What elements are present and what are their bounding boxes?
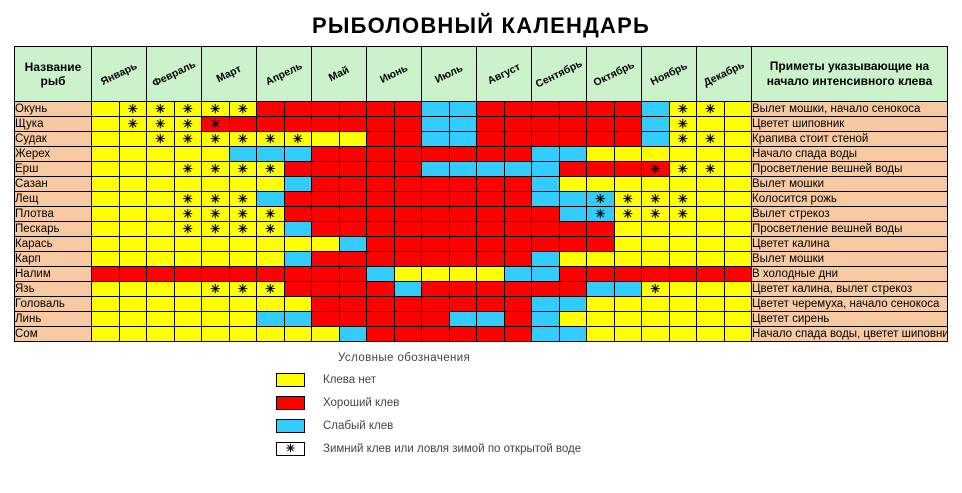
bite-cell <box>697 192 725 207</box>
header-month-3: Март <box>202 47 257 102</box>
bite-cell <box>174 237 202 252</box>
bite-cell <box>284 237 312 252</box>
bite-cell <box>147 147 175 162</box>
winter-bite-asterisk-icon: ✳ <box>257 133 284 146</box>
header-row: Название рыб ЯнварьФевральМартАпрельМайИ… <box>15 47 948 102</box>
bite-cell: ✳ <box>614 207 642 222</box>
bite-cell <box>504 147 532 162</box>
table-row: Окунь✳✳✳✳✳✳✳Вылет мошки, начало сенокоса <box>15 102 948 117</box>
bite-cell <box>559 192 587 207</box>
winter-bite-asterisk-icon: ✳ <box>147 103 174 116</box>
bite-cell <box>477 147 505 162</box>
winter-bite-asterisk-icon: ✳ <box>642 163 669 176</box>
table-row: ЛиньЦветет сирень <box>15 312 948 327</box>
bite-cell <box>312 177 340 192</box>
bite-cell <box>449 102 477 117</box>
bite-cell <box>504 117 532 132</box>
bite-cell <box>394 252 422 267</box>
bite-cell <box>257 237 285 252</box>
bite-cell <box>119 237 147 252</box>
bite-cell <box>587 117 615 132</box>
note-cell: Цветет черемуха, начало сенокоса <box>752 297 948 312</box>
bite-cell <box>532 222 560 237</box>
fish-name-cell: Лещ <box>15 192 92 207</box>
bite-cell <box>394 147 422 162</box>
winter-bite-asterisk-icon: ✳ <box>257 283 284 296</box>
bite-cell <box>532 312 560 327</box>
table-row: Судак✳✳✳✳✳✳✳✳Крапива стоит стеной <box>15 132 948 147</box>
bite-cell <box>504 267 532 282</box>
bite-cell <box>312 147 340 162</box>
note-cell: Просветление вешней воды <box>752 162 948 177</box>
bite-cell: ✳ <box>229 207 257 222</box>
calendar-container: Название рыб ЯнварьФевральМартАпрельМайИ… <box>0 40 962 342</box>
bite-cell <box>119 192 147 207</box>
bite-cell <box>449 327 477 342</box>
bite-cell <box>174 147 202 162</box>
bite-cell <box>422 162 450 177</box>
winter-bite-asterisk-icon: ✳ <box>257 208 284 221</box>
bite-cell <box>312 297 340 312</box>
winter-bite-asterisk-icon: ✳ <box>230 193 257 206</box>
bite-cell: ✳ <box>229 162 257 177</box>
winter-bite-asterisk-icon: ✳ <box>257 223 284 236</box>
table-body: Окунь✳✳✳✳✳✳✳Вылет мошки, начало сенокоса… <box>15 102 948 342</box>
bite-cell <box>614 222 642 237</box>
bite-cell <box>284 192 312 207</box>
header-month-11: Ноябрь <box>642 47 697 102</box>
bite-cell <box>174 312 202 327</box>
table-row: Лещ✳✳✳✳✳✳✳Колосится рожь <box>15 192 948 207</box>
bite-cell <box>477 312 505 327</box>
bite-cell: ✳ <box>257 162 285 177</box>
bite-cell: ✳ <box>147 102 175 117</box>
bite-cell <box>614 267 642 282</box>
bite-cell <box>532 282 560 297</box>
bite-cell <box>449 312 477 327</box>
fish-name-cell: Окунь <box>15 102 92 117</box>
bite-cell <box>284 297 312 312</box>
month-label: Апрель <box>257 57 311 91</box>
bite-cell <box>394 282 422 297</box>
bite-cell <box>147 177 175 192</box>
bite-cell <box>367 252 395 267</box>
bite-cell <box>284 162 312 177</box>
bite-cell <box>92 297 120 312</box>
bite-cell <box>119 252 147 267</box>
bite-cell <box>587 282 615 297</box>
winter-bite-asterisk-icon: ✳ <box>670 133 697 146</box>
bite-cell: ✳ <box>642 162 670 177</box>
bite-cell: ✳ <box>697 132 725 147</box>
bite-cell <box>367 162 395 177</box>
table-row: КарпВылет мошки <box>15 252 948 267</box>
bite-cell <box>587 162 615 177</box>
legend-swatch-b <box>276 419 305 433</box>
bite-cell <box>257 117 285 132</box>
month-label: Октябрь <box>587 57 641 91</box>
bite-cell <box>504 222 532 237</box>
bite-cell <box>724 132 752 147</box>
bite-cell <box>449 207 477 222</box>
bite-cell <box>477 237 505 252</box>
note-cell: Вылет мошки, начало сенокоса <box>752 102 948 117</box>
header-month-9: Сентябрь <box>532 47 587 102</box>
bite-cell <box>504 282 532 297</box>
bite-cell <box>669 147 697 162</box>
legend-item: Хороший клев <box>276 396 962 410</box>
bite-cell <box>614 147 642 162</box>
bite-cell <box>614 117 642 132</box>
bite-cell: ✳ <box>284 132 312 147</box>
bite-cell <box>422 117 450 132</box>
winter-bite-asterisk-icon: ✳ <box>670 118 697 131</box>
header-notes: Приметы указывающие на начало интенсивно… <box>752 47 948 102</box>
bite-cell <box>449 132 477 147</box>
winter-bite-asterisk-icon: ✳ <box>230 208 257 221</box>
bite-cell <box>724 192 752 207</box>
bite-cell <box>339 132 367 147</box>
winter-bite-asterisk-icon: ✳ <box>175 208 202 221</box>
header-fish-name: Название рыб <box>15 47 92 102</box>
bite-cell <box>312 207 340 222</box>
bite-cell <box>367 132 395 147</box>
bite-cell <box>202 312 230 327</box>
bite-cell <box>724 177 752 192</box>
month-label: Январь <box>92 57 146 91</box>
bite-cell <box>92 237 120 252</box>
legend-item: ✳Зимний клев или ловля зимой по открытой… <box>276 442 962 456</box>
bite-cell <box>229 297 257 312</box>
bite-cell <box>339 222 367 237</box>
bite-cell <box>174 267 202 282</box>
bite-cell <box>229 117 257 132</box>
bite-cell <box>339 207 367 222</box>
header-month-5: Май <box>312 47 367 102</box>
bite-cell <box>559 207 587 222</box>
bite-cell <box>312 222 340 237</box>
month-label: Март <box>202 57 256 91</box>
fish-name-cell: Линь <box>15 312 92 327</box>
bite-cell <box>587 177 615 192</box>
bite-cell <box>449 117 477 132</box>
fish-name-cell: Налим <box>15 267 92 282</box>
bite-cell <box>422 222 450 237</box>
note-cell: Начало спада воды <box>752 147 948 162</box>
bite-cell <box>92 282 120 297</box>
bite-cell <box>532 102 560 117</box>
bite-cell: ✳ <box>587 207 615 222</box>
winter-bite-asterisk-icon: ✳ <box>230 283 257 296</box>
bite-cell <box>339 162 367 177</box>
bite-cell <box>339 252 367 267</box>
bite-cell <box>312 237 340 252</box>
bite-cell <box>92 132 120 147</box>
bite-cell <box>724 237 752 252</box>
bite-cell: ✳ <box>119 102 147 117</box>
winter-bite-asterisk-icon: ✳ <box>642 193 669 206</box>
bite-cell <box>119 177 147 192</box>
bite-cell <box>697 237 725 252</box>
bite-cell <box>669 222 697 237</box>
bite-cell <box>339 282 367 297</box>
bite-cell <box>339 177 367 192</box>
bite-cell <box>312 252 340 267</box>
bite-cell <box>394 222 422 237</box>
bite-cell <box>339 267 367 282</box>
bite-cell: ✳ <box>257 207 285 222</box>
bite-cell <box>147 237 175 252</box>
table-row: Пескарь✳✳✳✳Просветление вешней воды <box>15 222 948 237</box>
bite-cell <box>642 117 670 132</box>
bite-cell <box>697 177 725 192</box>
winter-bite-asterisk-icon: ✳ <box>587 193 614 206</box>
bite-cell <box>724 297 752 312</box>
bite-cell <box>119 207 147 222</box>
bite-cell <box>367 102 395 117</box>
winter-bite-asterisk-icon: ✳ <box>202 193 229 206</box>
bite-cell <box>504 162 532 177</box>
bite-cell <box>422 132 450 147</box>
bite-cell <box>367 282 395 297</box>
bite-cell <box>697 267 725 282</box>
bite-cell: ✳ <box>669 162 697 177</box>
bite-cell <box>724 267 752 282</box>
bite-cell <box>449 237 477 252</box>
bite-cell <box>559 252 587 267</box>
bite-cell: ✳ <box>697 162 725 177</box>
bite-cell <box>449 222 477 237</box>
fish-name-cell: Судак <box>15 132 92 147</box>
bite-cell <box>92 147 120 162</box>
bite-cell <box>147 327 175 342</box>
fish-name-cell: Пескарь <box>15 222 92 237</box>
bite-cell <box>229 252 257 267</box>
bite-cell <box>257 192 285 207</box>
bite-cell <box>697 117 725 132</box>
bite-cell <box>697 282 725 297</box>
bite-cell <box>504 327 532 342</box>
bite-cell <box>367 207 395 222</box>
bite-cell <box>394 297 422 312</box>
winter-bite-asterisk-icon: ✳ <box>642 208 669 221</box>
bite-cell <box>477 222 505 237</box>
bite-cell <box>559 147 587 162</box>
winter-bite-asterisk-icon: ✳ <box>147 118 174 131</box>
bite-cell <box>422 207 450 222</box>
bite-cell <box>477 297 505 312</box>
bite-cell <box>422 237 450 252</box>
bite-cell: ✳ <box>697 102 725 117</box>
bite-cell: ✳ <box>614 192 642 207</box>
bite-cell: ✳ <box>642 282 670 297</box>
bite-cell <box>477 282 505 297</box>
winter-bite-asterisk-icon: ✳ <box>670 193 697 206</box>
bite-cell <box>614 162 642 177</box>
bite-cell <box>504 177 532 192</box>
winter-bite-asterisk-icon: ✳ <box>175 223 202 236</box>
bite-cell <box>147 267 175 282</box>
bite-cell <box>669 312 697 327</box>
bite-cell <box>92 102 120 117</box>
bite-cell <box>559 117 587 132</box>
table-row: Щука✳✳✳✳✳Цветет шиповник <box>15 117 948 132</box>
bite-cell <box>119 312 147 327</box>
note-cell: Просветление вешней воды <box>752 222 948 237</box>
bite-cell <box>532 132 560 147</box>
bite-cell <box>504 237 532 252</box>
bite-cell <box>724 207 752 222</box>
legend-label: Клева нет <box>323 374 376 386</box>
bite-cell <box>559 297 587 312</box>
legend-title: Условные обозначения <box>338 352 962 364</box>
bite-cell <box>92 267 120 282</box>
bite-cell <box>422 192 450 207</box>
header-month-7: Июль <box>422 47 477 102</box>
bite-cell <box>477 252 505 267</box>
note-cell: В холодные дни <box>752 267 948 282</box>
note-cell: Цветет калина <box>752 237 948 252</box>
bite-cell <box>587 237 615 252</box>
bite-cell <box>724 312 752 327</box>
bite-cell <box>92 327 120 342</box>
table-row: СазанВылет мошки <box>15 177 948 192</box>
bite-cell <box>697 297 725 312</box>
bite-cell <box>587 132 615 147</box>
bite-cell <box>394 207 422 222</box>
bite-cell <box>422 267 450 282</box>
legend-label: Хороший клев <box>323 397 399 409</box>
bite-cell <box>422 312 450 327</box>
bite-cell <box>642 147 670 162</box>
bite-cell <box>174 252 202 267</box>
bite-cell <box>697 147 725 162</box>
bite-cell <box>504 297 532 312</box>
fish-name-cell: Сом <box>15 327 92 342</box>
bite-cell <box>202 252 230 267</box>
winter-bite-asterisk-icon: ✳ <box>175 193 202 206</box>
bite-cell <box>477 192 505 207</box>
bite-cell <box>119 327 147 342</box>
bite-cell <box>724 252 752 267</box>
bite-cell <box>642 297 670 312</box>
bite-cell <box>284 177 312 192</box>
bite-cell <box>669 282 697 297</box>
bite-cell <box>504 252 532 267</box>
legend-label: Слабый клев <box>323 420 393 432</box>
bite-cell <box>284 147 312 162</box>
bite-cell <box>174 327 202 342</box>
bite-cell <box>202 177 230 192</box>
bite-cell <box>477 327 505 342</box>
bite-cell <box>257 327 285 342</box>
bite-cell <box>367 177 395 192</box>
bite-cell <box>724 117 752 132</box>
winter-bite-asterisk-icon: ✳ <box>175 118 202 131</box>
table-header: Название рыб ЯнварьФевральМартАпрельМайИ… <box>15 47 948 102</box>
bite-cell <box>532 177 560 192</box>
month-label: Февраль <box>147 57 201 91</box>
bite-cell <box>284 327 312 342</box>
bite-cell <box>92 162 120 177</box>
bite-cell <box>394 267 422 282</box>
bite-cell: ✳ <box>202 132 230 147</box>
legend-items: Клева нетХороший клевСлабый клев✳Зимний … <box>276 373 962 456</box>
month-label: Июль <box>422 57 476 91</box>
bite-cell <box>724 327 752 342</box>
bite-cell: ✳ <box>257 222 285 237</box>
bite-cell <box>229 177 257 192</box>
bite-cell <box>559 312 587 327</box>
note-cell: Вылет мошки <box>752 252 948 267</box>
note-cell: Крапива стоит стеной <box>752 132 948 147</box>
note-cell: Цветет сирень <box>752 312 948 327</box>
bite-cell: ✳ <box>669 132 697 147</box>
winter-bite-asterisk-icon: ✳ <box>670 103 697 116</box>
bite-cell <box>697 327 725 342</box>
bite-cell <box>339 297 367 312</box>
note-cell: Вылет стрекоз <box>752 207 948 222</box>
bite-cell <box>367 192 395 207</box>
bite-cell <box>559 162 587 177</box>
winter-bite-asterisk-icon: ✳ <box>257 163 284 176</box>
bite-cell <box>614 297 642 312</box>
bite-cell <box>367 222 395 237</box>
bite-cell <box>367 147 395 162</box>
bite-cell <box>697 207 725 222</box>
bite-cell <box>202 267 230 282</box>
bite-cell <box>147 207 175 222</box>
bite-cell <box>312 267 340 282</box>
table-row: СомНачало спада воды, цветет шиповник <box>15 327 948 342</box>
bite-cell <box>532 117 560 132</box>
page-title: РЫБОЛОВНЫЙ КАЛЕНДАРЬ <box>0 0 962 40</box>
winter-bite-asterisk-icon: ✳ <box>285 133 312 146</box>
bite-cell <box>119 222 147 237</box>
legend-label: Зимний клев или ловля зимой по открытой … <box>323 443 581 455</box>
winter-bite-asterisk-icon: ✳ <box>202 163 229 176</box>
bite-cell <box>257 147 285 162</box>
bite-cell <box>92 252 120 267</box>
bite-cell <box>394 192 422 207</box>
bite-cell <box>92 207 120 222</box>
bite-cell <box>559 222 587 237</box>
bite-cell <box>367 312 395 327</box>
bite-cell: ✳ <box>669 117 697 132</box>
winter-bite-asterisk-icon: ✳ <box>202 283 229 296</box>
fish-name-cell: Сазан <box>15 177 92 192</box>
bite-cell <box>669 252 697 267</box>
bite-cell <box>119 147 147 162</box>
bite-cell <box>449 192 477 207</box>
winter-bite-asterisk-icon: ✳ <box>670 208 697 221</box>
bite-cell <box>642 102 670 117</box>
bite-cell: ✳ <box>229 102 257 117</box>
winter-bite-asterisk-icon: ✳ <box>202 133 229 146</box>
bite-cell <box>174 282 202 297</box>
bite-cell <box>669 177 697 192</box>
bite-cell <box>724 282 752 297</box>
header-month-12: Декабрь <box>697 47 752 102</box>
winter-bite-asterisk-icon: ✳ <box>202 118 229 131</box>
bite-cell <box>642 237 670 252</box>
bite-cell <box>367 267 395 282</box>
bite-cell: ✳ <box>669 192 697 207</box>
bite-cell <box>477 132 505 147</box>
fish-name-cell: Плотва <box>15 207 92 222</box>
winter-bite-asterisk-icon: ✳ <box>202 223 229 236</box>
bite-cell <box>559 102 587 117</box>
